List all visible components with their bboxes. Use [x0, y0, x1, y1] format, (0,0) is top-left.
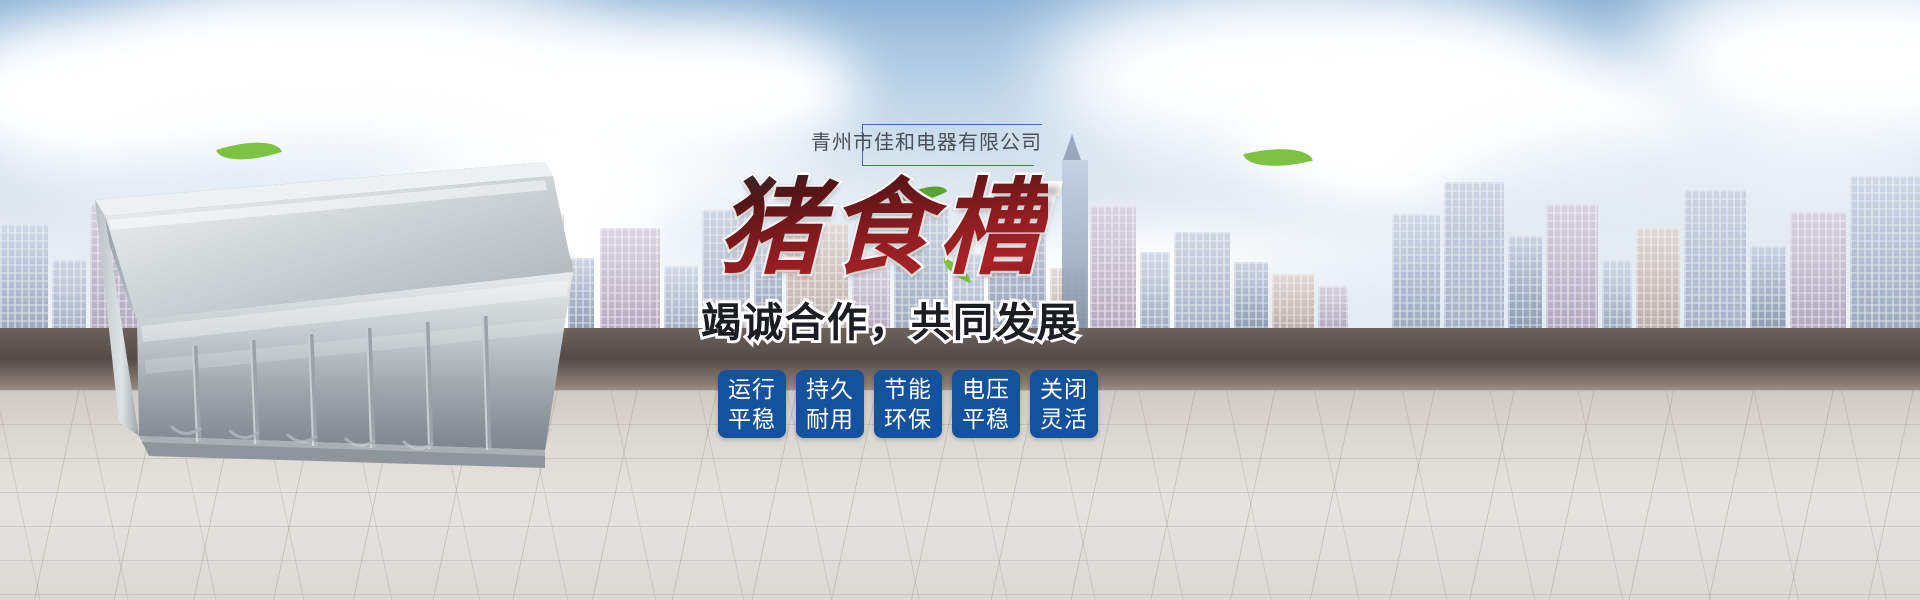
company-name-frame-top-rule — [862, 124, 1042, 125]
feature-badge-line2: 灵活 — [1040, 404, 1088, 434]
feature-badge-line2: 环保 — [884, 404, 932, 434]
feature-badge-line1: 关闭 — [1040, 374, 1088, 404]
main-title: 猪食槽 — [718, 168, 1048, 288]
feature-badge-line1: 运行 — [728, 374, 776, 404]
feature-badge[interactable]: 运行 平稳 — [718, 370, 786, 438]
product-image-pig-feeding-trough — [75, 150, 595, 480]
feature-badge[interactable]: 电压 平稳 — [952, 370, 1020, 438]
feature-badge-line2: 平稳 — [728, 404, 776, 434]
feature-badge-line2: 耐用 — [806, 404, 854, 434]
promo-banner: 青州市佳和电器有限公司 猪食槽 猪食槽 竭诚合作，共同发展 竭诚合作，共同发展 … — [0, 0, 1920, 600]
feature-badge-line2: 平稳 — [962, 404, 1010, 434]
company-name: 青州市佳和电器有限公司 — [752, 126, 1042, 155]
subtitle: 竭诚合作，共同发展 — [690, 290, 1090, 348]
feature-badge[interactable]: 持久 耐用 — [796, 370, 864, 438]
feature-badge-line1: 持久 — [806, 374, 854, 404]
feature-badge[interactable]: 关闭 灵活 — [1030, 370, 1098, 438]
feature-badge[interactable]: 节能 环保 — [874, 370, 942, 438]
feature-badge-list: 运行 平稳 持久 耐用 节能 环保 电压 平稳 关闭 灵活 — [718, 370, 1098, 438]
feature-badge-line1: 电压 — [962, 374, 1010, 404]
feature-badge-line1: 节能 — [884, 374, 932, 404]
